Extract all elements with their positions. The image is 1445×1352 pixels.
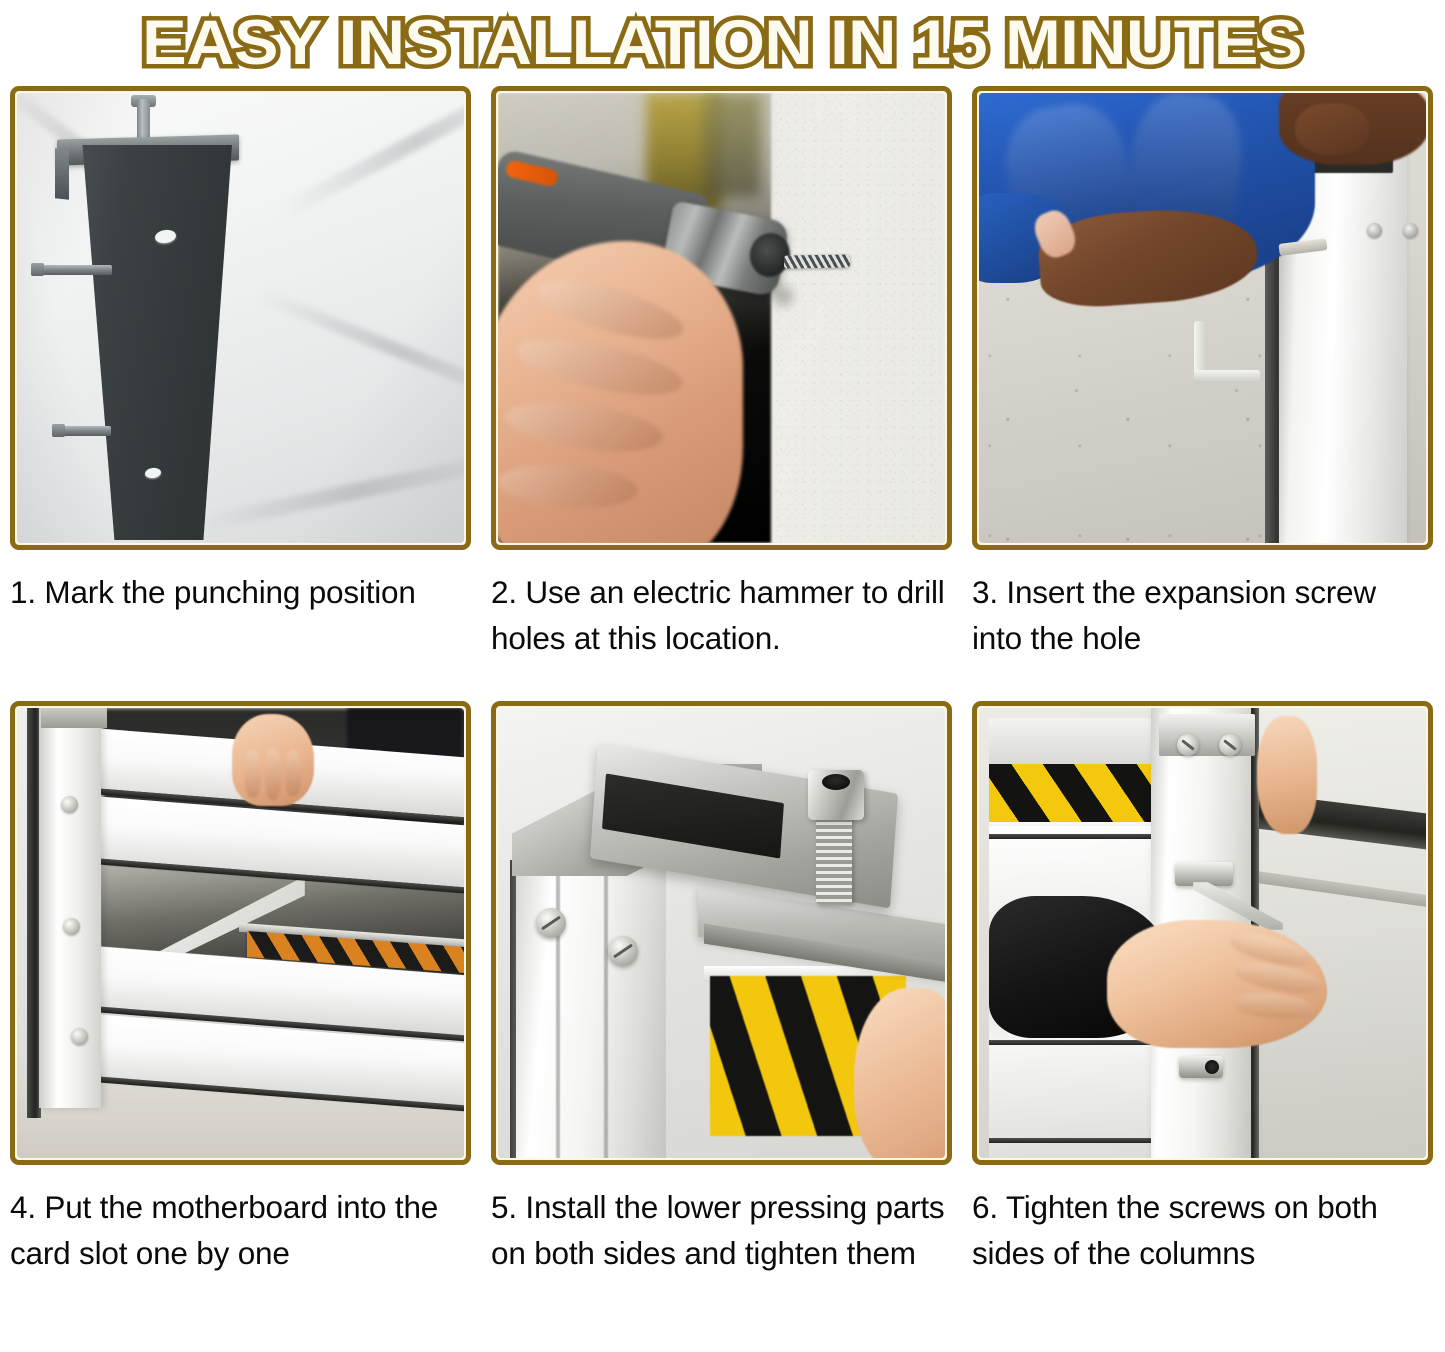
steadying-hand	[1257, 716, 1317, 834]
white-column	[39, 708, 101, 1108]
board-seam	[989, 1040, 1159, 1045]
column-side-bracket	[55, 148, 69, 199]
steps-row-1: 1. Mark the punching position	[0, 86, 1445, 701]
step-card-1: 1. Mark the punching position	[0, 86, 481, 701]
column-screw	[61, 796, 78, 813]
hazard-stripe-board	[989, 764, 1151, 824]
step-5-photo	[498, 708, 945, 1158]
column-groove	[604, 873, 608, 1158]
header-banner: EASY INSTALLATION IN 15 MINUTES	[0, 0, 1445, 86]
bracket-screw	[536, 908, 566, 938]
column-screw	[63, 918, 80, 935]
allen-key-short-arm	[1194, 370, 1260, 383]
step-card-3: 3. Insert the expansion screw into the h…	[962, 86, 1443, 701]
finger	[265, 748, 281, 800]
step-2-caption: 2. Use an electric hammer to drill holes…	[491, 569, 952, 701]
steps-grid: 1. Mark the punching position	[0, 86, 1445, 1324]
step-2-photo	[498, 93, 945, 543]
steps-row-2: 4. Put the motherboard into the card slo…	[0, 701, 1445, 1324]
hex-bolt-thread	[816, 808, 852, 904]
step-6-photo-frame	[972, 701, 1433, 1165]
step-6-caption: 6. Tighten the screws on both sides of t…	[972, 1184, 1433, 1324]
allen-key-on-floor	[1194, 321, 1264, 383]
board-seam	[989, 1138, 1159, 1143]
step-card-4: 4. Put the motherboard into the card slo…	[0, 701, 481, 1324]
step-3-photo-frame	[972, 86, 1433, 550]
board-top-white	[989, 718, 1151, 766]
finger	[245, 750, 261, 798]
step-3-photo	[979, 93, 1426, 543]
step-4-photo	[17, 708, 464, 1158]
step-5-photo-frame	[491, 701, 952, 1165]
column-screw	[1177, 734, 1199, 756]
protruding-bolt	[34, 265, 112, 275]
column-screw	[1219, 734, 1241, 756]
side-bolt	[1179, 1056, 1223, 1078]
finger	[285, 750, 301, 796]
drill-bit	[784, 254, 850, 268]
step-1-photo-frame	[10, 86, 471, 550]
white-column	[516, 858, 666, 1158]
step-card-6: 6. Tighten the screws on both sides of t…	[962, 701, 1443, 1324]
page-title: EASY INSTALLATION IN 15 MINUTES	[143, 10, 1303, 76]
step-card-5: 5. Install the lower pressing parts on b…	[481, 701, 962, 1324]
column-screw	[71, 1028, 88, 1045]
drill-dust	[766, 281, 800, 311]
step-2-photo-frame	[491, 86, 952, 550]
step-3-caption: 3. Insert the expansion screw into the h…	[972, 569, 1433, 701]
step-1-caption: 1. Mark the punching position	[10, 569, 471, 701]
column-screw	[1367, 223, 1382, 238]
column-screw	[1403, 223, 1418, 238]
step-4-photo-frame	[10, 701, 471, 1165]
bracket-screw	[608, 936, 638, 966]
bolt-head	[52, 424, 65, 437]
column-top-cap	[1159, 714, 1255, 756]
step-4-caption: 4. Put the motherboard into the card slo…	[10, 1184, 471, 1324]
bolt-head	[31, 263, 44, 276]
step-1-photo	[17, 93, 464, 543]
worker-right-hand	[1295, 103, 1369, 155]
column-top-cap	[41, 708, 107, 728]
board-seam	[989, 834, 1159, 839]
blurred-background-object	[704, 93, 762, 198]
step-card-2: 2. Use an electric hammer to drill holes…	[481, 86, 962, 701]
hex-socket	[822, 774, 850, 790]
step-5-caption: 5. Install the lower pressing parts on b…	[491, 1184, 952, 1324]
step-6-photo	[979, 708, 1426, 1158]
